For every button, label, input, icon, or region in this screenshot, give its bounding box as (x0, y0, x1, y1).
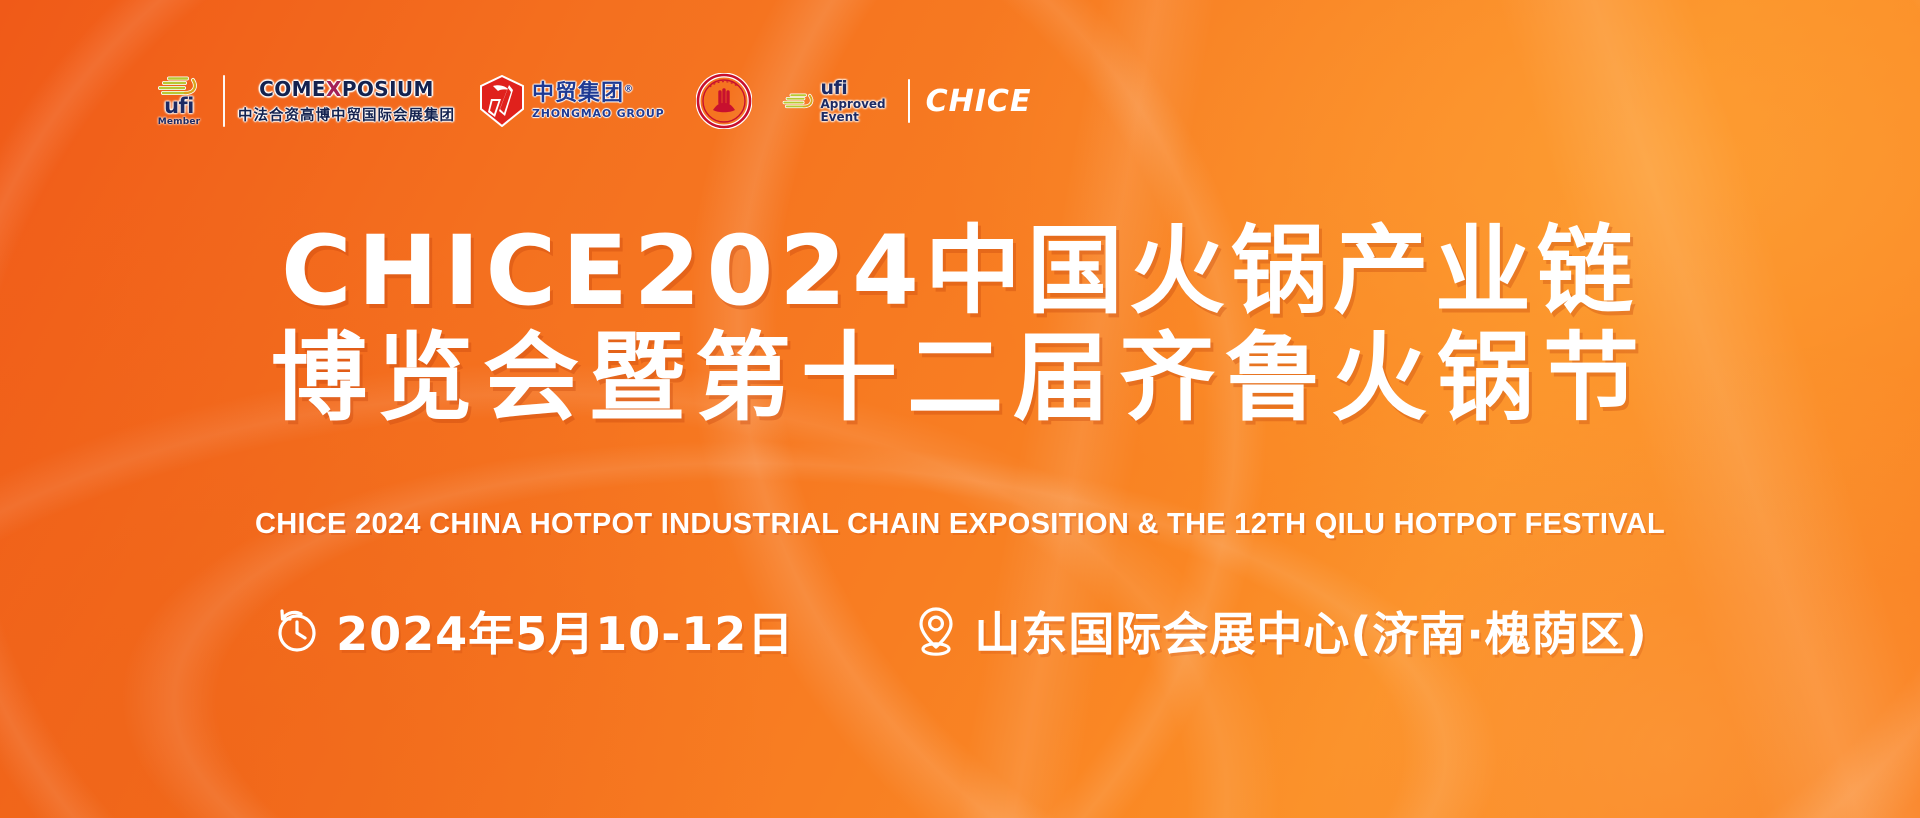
page-title-english: CHICE 2024 CHINA HOTPOT INDUSTRIAL CHAIN… (0, 508, 1920, 541)
ufi-member-wordmark: ufi (164, 97, 194, 117)
event-info-row: 2024年5月10-12日 山东国际会展中心(济南·槐荫区) (0, 598, 1920, 664)
event-venue-text: 山东国际会展中心(济南·槐荫区) (974, 598, 1648, 664)
ufi-member-logo: ufi Member (148, 75, 210, 127)
comexposium-part1: COME (259, 77, 326, 101)
chice-logo: CHICE (926, 84, 1032, 119)
logo-divider (908, 79, 910, 123)
zhongmao-english-name: ZHONGMAO GROUP (532, 107, 664, 120)
location-pin-icon (912, 605, 960, 657)
logo-divider (223, 75, 225, 127)
comexposium-wordmark: COMEXPOSIUM (259, 77, 434, 101)
event-date-text: 2024年5月10-12日 (336, 598, 794, 664)
event-banner: ufi Member COMEXPOSIUM 中法合资高博中贸国际会展集团 (0, 0, 1920, 818)
sponsor-logo-row: ufi Member COMEXPOSIUM 中法合资高博中贸国际会展集团 (148, 68, 1031, 134)
ufi-approved-wordmark: ufi (820, 79, 885, 98)
ufi-approved-line2: Event (820, 111, 885, 123)
association-seal-logo (696, 73, 752, 129)
comexposium-chinese-name: 中法合资高博中贸国际会展集团 (238, 104, 455, 125)
comexposium-part2: POSIUM (342, 77, 434, 101)
event-venue: 山东国际会展中心(济南·槐荫区) (912, 598, 1648, 664)
comexposium-logo: COMEXPOSIUM 中法合资高博中贸国际会展集团 (238, 77, 455, 125)
wing-icon (782, 89, 816, 113)
page-title-line2: 博览会暨第十二届齐鲁火锅节 (0, 300, 1920, 439)
zhongmao-mark-icon (479, 75, 525, 127)
ufi-approved-event-logo: ufi Approved Event (782, 79, 885, 123)
zhongmao-group-logo: 中贸集团® ZHONGMAO GROUP (479, 75, 664, 127)
clock-icon (272, 606, 322, 656)
comexposium-x-letter: X (326, 77, 342, 101)
ufi-approved-line1: Approved (820, 98, 885, 110)
registered-mark-icon: ® (624, 85, 634, 95)
ufi-member-label: Member (158, 117, 201, 127)
zhongmao-chinese-name: 中贸集团 (532, 81, 624, 106)
event-date: 2024年5月10-12日 (272, 598, 794, 664)
